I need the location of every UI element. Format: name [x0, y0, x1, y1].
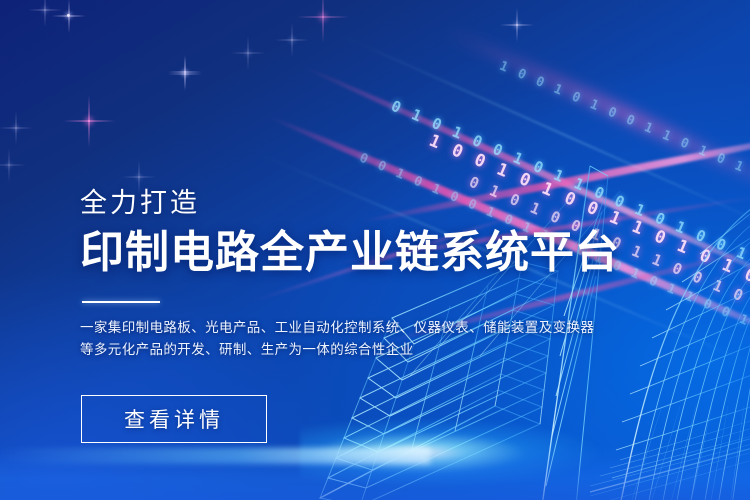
sparkle-icon	[8, 164, 10, 166]
eyebrow-text: 全力打造	[80, 190, 620, 217]
page-title: 印制电路全产业链系统平台	[80, 231, 620, 275]
sparkle-icon	[291, 39, 293, 41]
sparkle-icon	[247, 52, 249, 54]
light-streak	[437, 21, 750, 213]
sparkle-icon	[88, 120, 90, 122]
description-text: 一家集印制电路板、光电产品、工业自动化控制系统、仪器仪表、储能装置及变换器 等多…	[80, 317, 620, 361]
sparkle-icon	[322, 16, 324, 18]
description-line-1: 一家集印制电路板、光电产品、工业自动化控制系统、仪器仪表、储能装置及变换器	[80, 317, 620, 339]
sparkle-icon	[15, 127, 17, 129]
sparkle-icon	[138, 176, 140, 178]
hero-content: 全力打造 印制电路全产业链系统平台 一家集印制电路板、光电产品、工业自动化控制系…	[80, 190, 620, 443]
sparkle-icon	[516, 24, 518, 26]
description-line-2: 等多元化产品的开发、研制、生产为一体的综合性企业	[80, 339, 620, 361]
sparkle-icon	[184, 71, 186, 73]
sparkle-icon	[184, 73, 186, 75]
light-streak	[0, 448, 430, 464]
floor-glow	[0, 446, 750, 500]
view-details-button[interactable]: 查看详情	[81, 395, 267, 443]
sparkle-icon	[67, 14, 70, 17]
title-divider	[82, 301, 160, 303]
sparkle-icon	[44, 9, 46, 11]
hero-banner: 0 1 0 1 0 0 1 0 1 1 0 0 1 0 1 0 0 1 1 0 …	[0, 0, 750, 500]
